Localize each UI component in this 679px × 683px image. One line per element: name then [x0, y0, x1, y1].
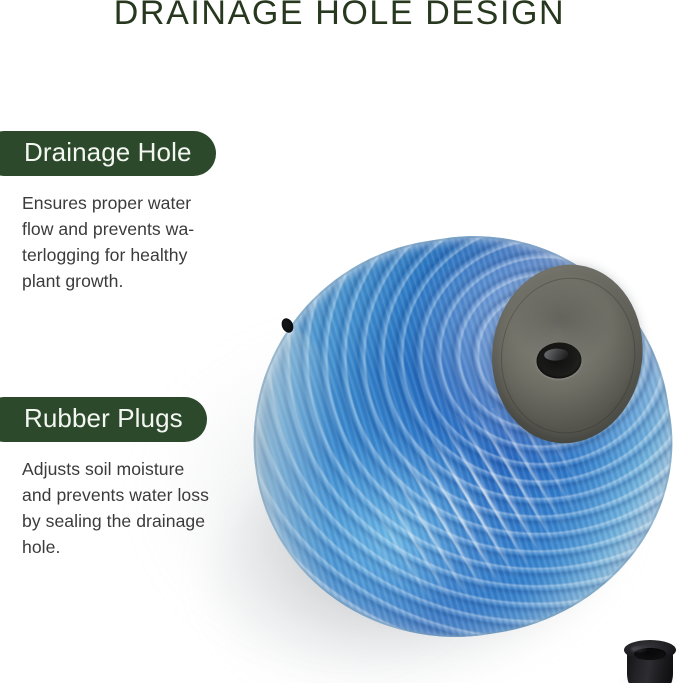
description-rubber-plugs: Adjusts soil moisture and prevents water…: [22, 456, 209, 560]
badge-rubber-plugs: Rubber Plugs: [0, 397, 207, 442]
description-line: terlogging for healthy: [22, 242, 216, 268]
ceramic-planter-pot: [224, 208, 679, 666]
description-line: hole.: [22, 534, 209, 560]
description-line: by sealing the drainage: [22, 508, 209, 534]
product-image: [0, 0, 679, 683]
rubber-plug-highlight: [631, 646, 649, 652]
product-infographic: DRAINAGE HOLE DESIGN: [0, 0, 679, 683]
description-line: plant growth.: [22, 268, 216, 294]
description-drainage-hole: Ensures proper water flow and prevents w…: [22, 190, 216, 294]
rubber-plug: [624, 636, 676, 683]
rubber-plug-flange: [624, 640, 676, 660]
drainage-hole-gloss: [544, 347, 568, 360]
description-line: flow and prevents wa-: [22, 216, 216, 242]
callout-rubber-plugs: Rubber Plugs Adjusts soil moisture and p…: [0, 397, 209, 560]
badge-drainage-hole: Drainage Hole: [0, 131, 216, 176]
description-line: and prevents water loss: [22, 482, 209, 508]
description-line: Adjusts soil moisture: [22, 456, 209, 482]
description-line: Ensures proper water: [22, 190, 216, 216]
pot-glaze-body: [224, 208, 679, 666]
callout-drainage-hole: Drainage Hole Ensures proper water flow …: [0, 131, 216, 294]
